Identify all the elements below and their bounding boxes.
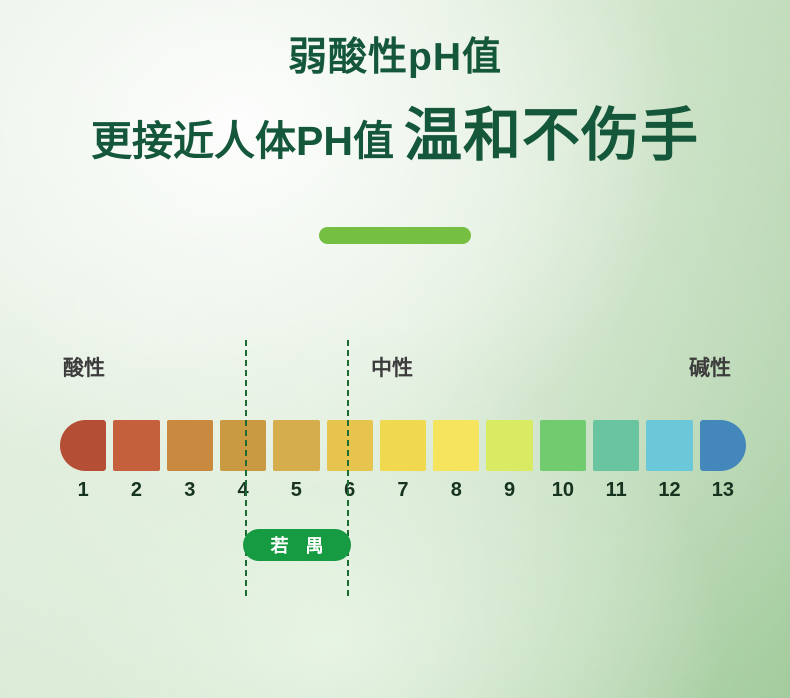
ph-number-7: 7 [380, 479, 426, 502]
ph-swatch-1 [60, 420, 106, 471]
ph-swatch-5 [273, 420, 319, 471]
ph-swatch-6 [327, 420, 373, 471]
ph-scale: 酸性中性碱性12345678910111213若 禺 [0, 0, 790, 698]
ph-swatch-3 [167, 420, 213, 471]
ph-number-4: 4 [220, 479, 266, 502]
ph-swatch-10 [540, 420, 586, 471]
ph-swatch-11 [593, 420, 639, 471]
ph-number-3: 3 [167, 479, 213, 502]
ph-swatch-8 [433, 420, 479, 471]
ph-swatch-7 [380, 420, 426, 471]
ph-6-marker [347, 340, 349, 596]
ph-swatch-2 [113, 420, 159, 471]
ph-number-1: 1 [60, 479, 106, 502]
brand-badge: 若 禺 [243, 529, 351, 561]
ph-swatch-4 [220, 420, 266, 471]
ph-number-13: 13 [700, 479, 746, 502]
ph-swatch-13 [700, 420, 746, 471]
ph-number-5: 5 [273, 479, 319, 502]
ph-4-marker [245, 340, 247, 596]
ph-number-11: 11 [593, 479, 639, 502]
zone-label-1: 中性 [371, 352, 413, 382]
ph-number-8: 8 [433, 479, 479, 502]
zone-label-2: 碱性 [689, 352, 731, 382]
zone-label-0: 酸性 [63, 352, 105, 382]
ph-number-9: 9 [486, 479, 532, 502]
ph-number-6: 6 [327, 479, 373, 502]
ph-number-10: 10 [540, 479, 586, 502]
ph-number-12: 12 [646, 479, 692, 502]
ph-poster: 弱酸性pH值 更接近人体PH值 温和不伤手 酸性中性碱性123456789101… [0, 0, 790, 698]
ph-swatch-12 [646, 420, 692, 471]
ph-swatch-9 [486, 420, 532, 471]
ph-number-2: 2 [113, 479, 159, 502]
